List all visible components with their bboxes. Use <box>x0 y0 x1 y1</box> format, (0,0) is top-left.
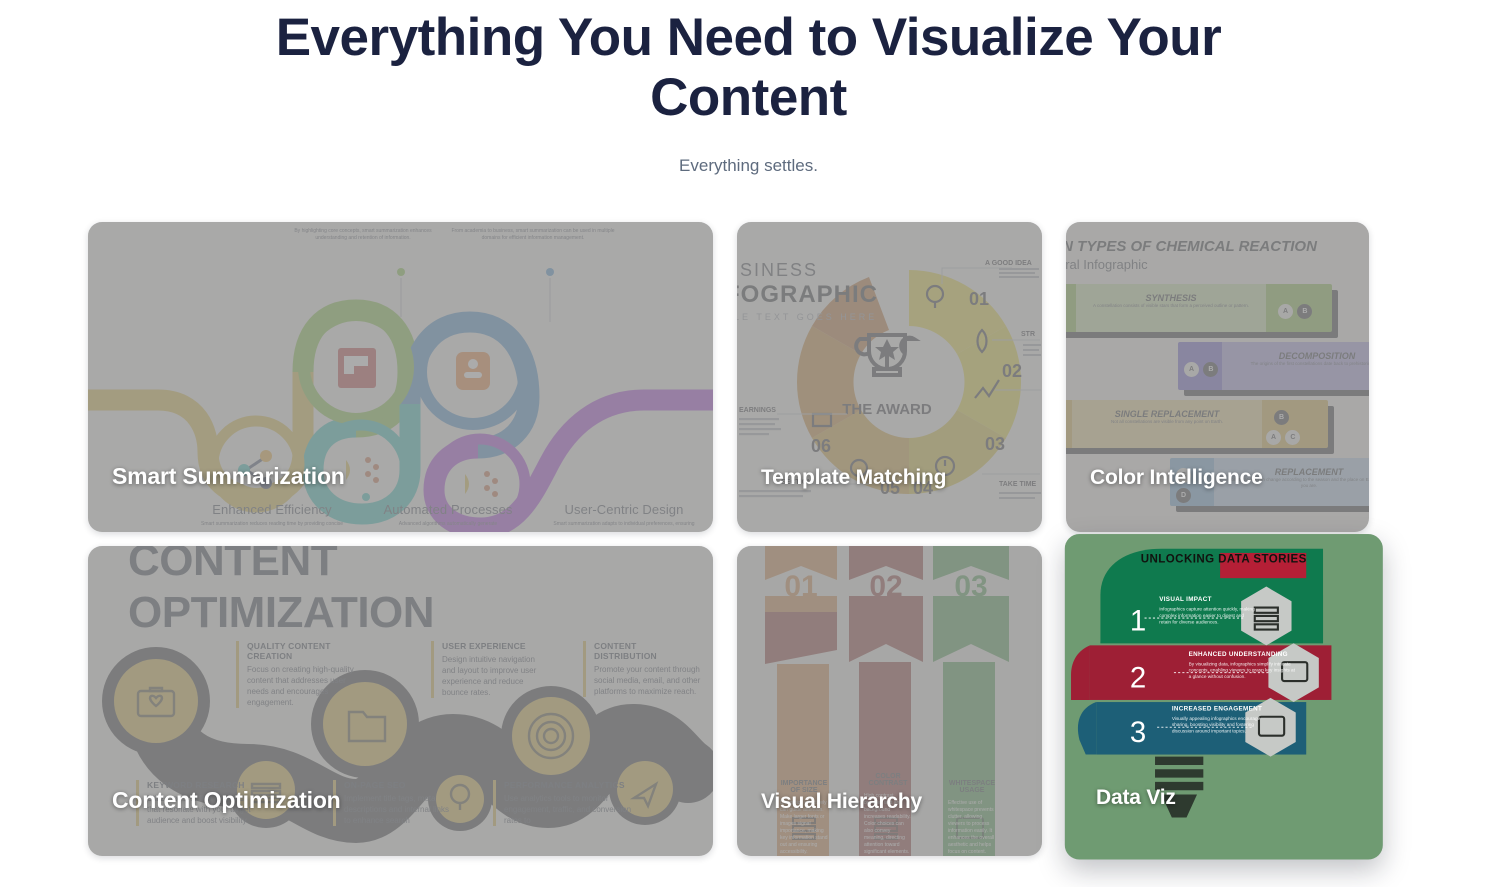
gallery-card-visual-hierarchy[interactable]: 01 02 03 <box>737 546 1042 856</box>
thumbnail-chemical-reaction-infographic: IN TYPES OF CHEMICAL REACTION eral Infog… <box>1066 222 1369 532</box>
page-subtitle: Everything settles. <box>0 156 1497 176</box>
thumbnail-lightbulb-steps-infographic: 1 2 3 <box>1065 534 1383 860</box>
gallery-card-content-optimization[interactable]: CONTENT OPTIMIZATION QUALITY CONTENT CRE… <box>88 546 713 856</box>
gallery-card-template-matching[interactable]: THE AWARD 01 02 03 04 05 06 <box>737 222 1042 532</box>
thumbnail-ribbon-infographic: 01 02 03 <box>737 546 1042 856</box>
thumbnail-roadmap-infographic: By highlighting core concepts, smart sum… <box>88 222 713 532</box>
thumbnail-placeholder-veil <box>1066 222 1369 532</box>
thumbnail-placeholder-veil <box>737 546 1042 856</box>
thumbnail-placeholder-veil <box>737 222 1042 532</box>
thumbnail-content-optimization-infographic: CONTENT OPTIMIZATION QUALITY CONTENT CRE… <box>88 546 713 856</box>
gallery-card-smart-summarization[interactable]: By highlighting core concepts, smart sum… <box>88 222 713 532</box>
thumbnail-placeholder-veil <box>1065 534 1383 860</box>
lightbulb-banner: UNLOCKING DATA STORIES <box>1141 553 1307 566</box>
page-title: Everything You Need to Visualize Your Co… <box>199 8 1299 128</box>
gallery-card-data-viz[interactable]: 1 2 3 <box>1066 546 1369 856</box>
thumbnail-placeholder-veil <box>88 546 713 856</box>
thumbnail-placeholder-veil <box>88 222 713 532</box>
gallery-page: Everything You Need to Visualize Your Co… <box>0 0 1497 887</box>
page-header: Everything You Need to Visualize Your Co… <box>0 0 1497 176</box>
gallery-card-color-intelligence[interactable]: IN TYPES OF CHEMICAL REACTION eral Infog… <box>1066 222 1369 532</box>
thumbnail-award-donut-infographic: THE AWARD 01 02 03 04 05 06 <box>737 222 1042 532</box>
card-grid: By highlighting core concepts, smart sum… <box>88 222 1366 856</box>
